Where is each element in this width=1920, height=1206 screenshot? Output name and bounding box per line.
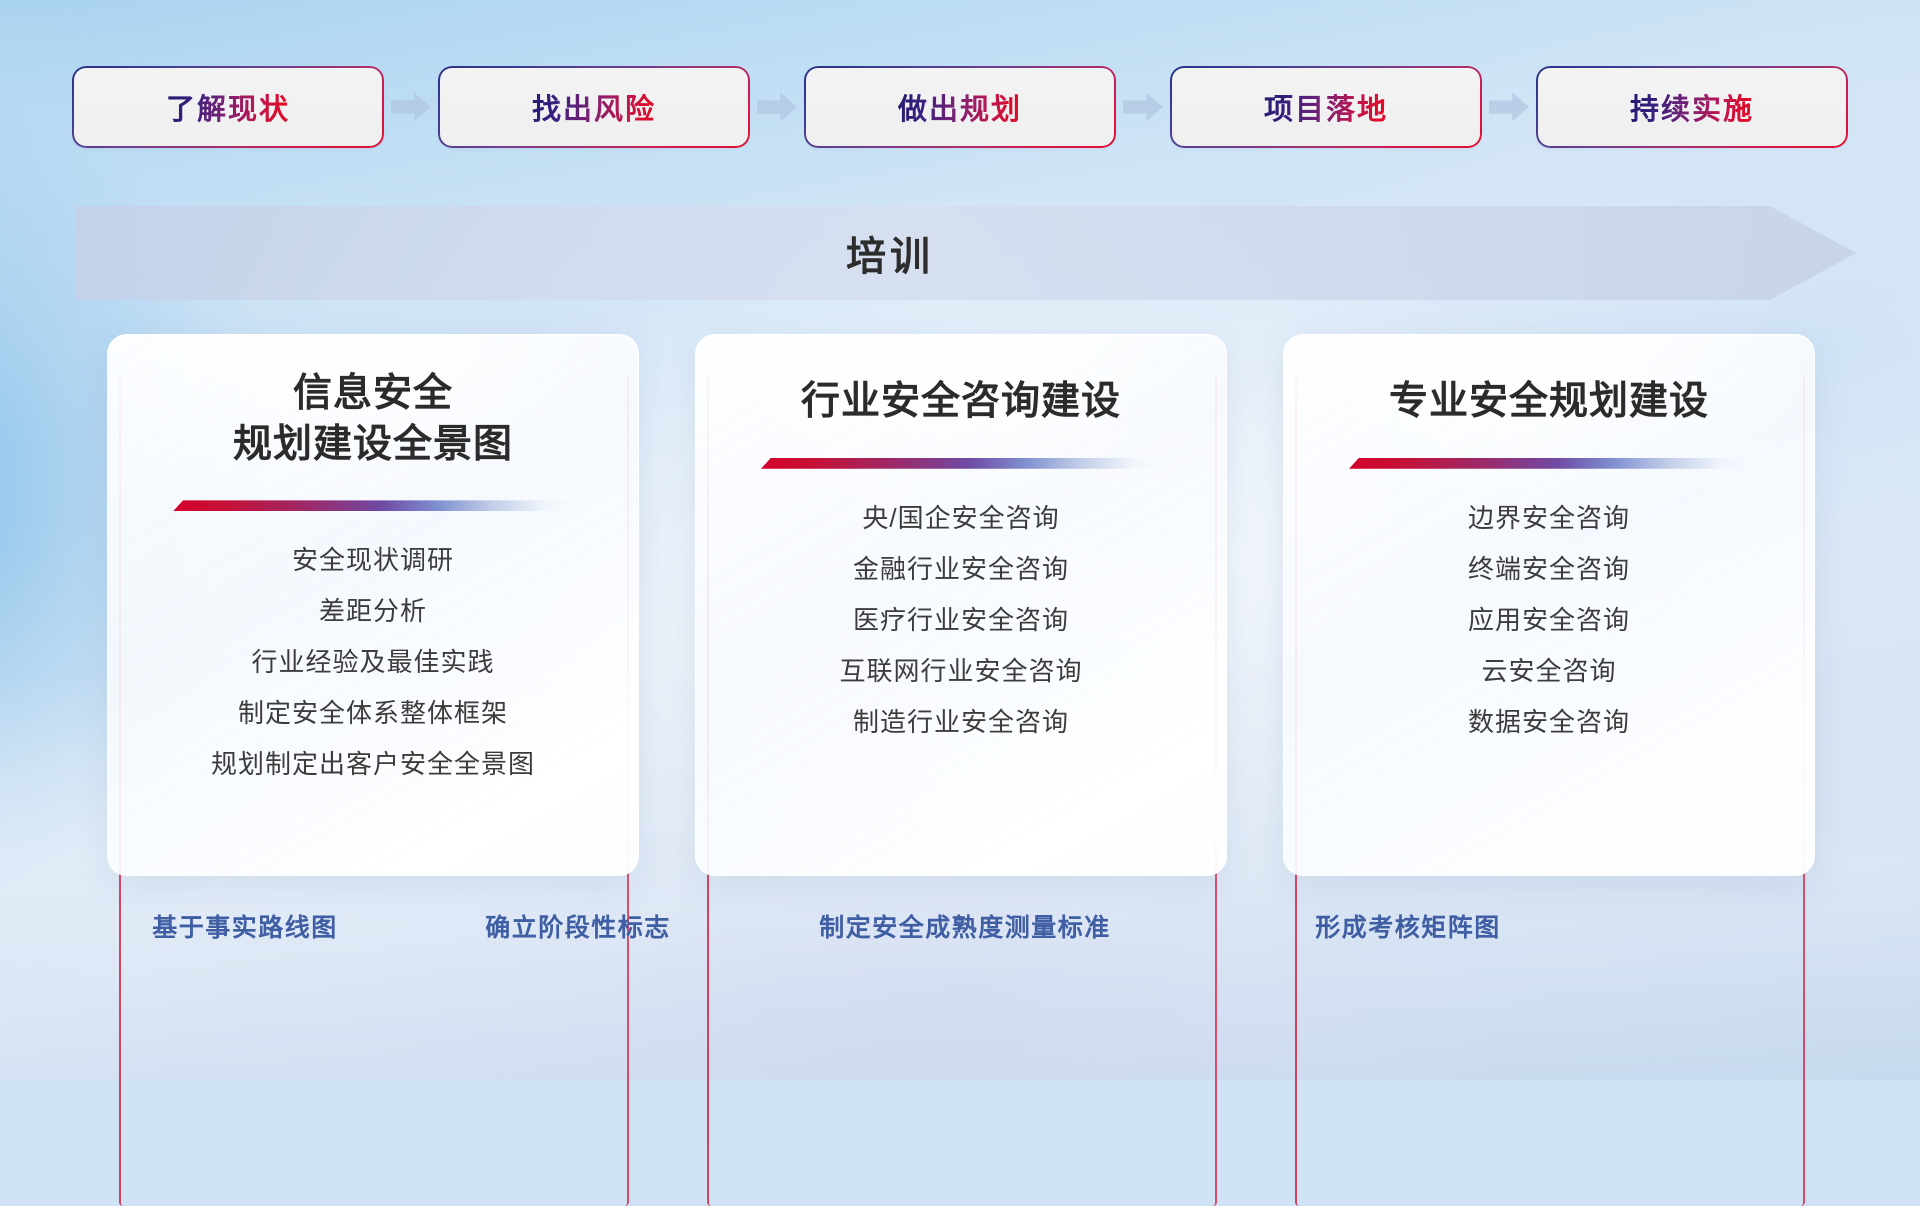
list-item: 边界安全咨询 [1468, 505, 1630, 531]
list-item: 数据安全咨询 [1468, 709, 1630, 735]
list-item: 制定安全体系整体框架 [211, 700, 535, 726]
step-label: 持续实施 [1630, 86, 1754, 128]
card-divider [173, 500, 573, 511]
card-wrapper-2: 行业安全咨询建设 央/国企安全咨询 金融行业安全咨询 医疗行业安全咨询 互联网行… [695, 334, 1225, 876]
step-label: 做出规划 [898, 86, 1022, 128]
card-item-list: 安全现状调研 差距分析 行业经验及最佳实践 制定安全体系整体框架 规划制定出客户… [211, 547, 535, 777]
card-row: 信息安全 规划建设全景图 安全现状调研 差距分析 行业经验及最佳实践 制定安全体… [0, 334, 1920, 876]
card-item-list: 央/国企安全咨询 金融行业安全咨询 医疗行业安全咨询 互联网行业安全咨询 制造行… [839, 505, 1082, 735]
arrow-right-icon [1480, 68, 1538, 146]
card-divider [761, 458, 1161, 469]
training-banner-label: 培训 [846, 224, 934, 282]
footer-label-row: 基于事实路线图 确立阶段性标志 制定安全成熟度测量标准 形成考核矩阵图 [0, 908, 1920, 968]
list-item: 制造行业安全咨询 [839, 709, 1082, 735]
step-chip-1[interactable]: 了解现状 [74, 68, 382, 146]
step-chip-3[interactable]: 做出规划 [806, 68, 1114, 146]
arrow-right-icon [1114, 68, 1172, 146]
list-item: 应用安全咨询 [1468, 607, 1630, 633]
step-label: 了解现状 [166, 86, 290, 128]
list-item: 差距分析 [211, 598, 535, 624]
arrow-right-icon [748, 68, 806, 146]
card-wrapper-1: 信息安全 规划建设全景图 安全现状调研 差距分析 行业经验及最佳实践 制定安全体… [107, 334, 637, 876]
training-banner-label-wrap: 培训 [0, 206, 1780, 300]
process-step-row: 了解现状 找出风险 做出规划 项目落地 持续实施 [0, 68, 1920, 146]
list-item: 终端安全咨询 [1468, 556, 1630, 582]
list-item: 金融行业安全咨询 [839, 556, 1082, 582]
card-divider [1349, 458, 1749, 469]
card-professional-security-planning[interactable]: 专业安全规划建设 边界安全咨询 终端安全咨询 应用安全咨询 云安全咨询 数据安全… [1283, 334, 1815, 876]
list-item: 安全现状调研 [211, 547, 535, 573]
step-chip-2[interactable]: 找出风险 [440, 68, 748, 146]
step-label: 找出风险 [532, 86, 656, 128]
list-item: 医疗行业安全咨询 [839, 607, 1082, 633]
card-title: 专业安全规划建设 [1389, 377, 1709, 428]
card-info-security-panorama[interactable]: 信息安全 规划建设全景图 安全现状调研 差距分析 行业经验及最佳实践 制定安全体… [107, 334, 639, 876]
arrow-right-icon [382, 68, 440, 146]
list-item: 互联网行业安全咨询 [839, 658, 1082, 684]
card-industry-security-consulting[interactable]: 行业安全咨询建设 央/国企安全咨询 金融行业安全咨询 医疗行业安全咨询 互联网行… [695, 334, 1227, 876]
card-title: 行业安全咨询建设 [801, 377, 1121, 428]
footer-label-3: 制定安全成熟度测量标准 [819, 908, 1111, 944]
footer-label-1: 基于事实路线图 [152, 908, 338, 944]
footer-label-4: 形成考核矩阵图 [1315, 908, 1501, 944]
list-item: 行业经验及最佳实践 [211, 649, 535, 675]
card-title: 信息安全 规划建设全景图 [233, 369, 513, 470]
step-chip-4[interactable]: 项目落地 [1172, 68, 1480, 146]
card-item-list: 边界安全咨询 终端安全咨询 应用安全咨询 云安全咨询 数据安全咨询 [1468, 505, 1630, 735]
step-chip-5[interactable]: 持续实施 [1538, 68, 1846, 146]
card-wrapper-3: 专业安全规划建设 边界安全咨询 终端安全咨询 应用安全咨询 云安全咨询 数据安全… [1283, 334, 1813, 876]
list-item: 规划制定出客户安全全景图 [211, 751, 535, 777]
footer-label-2: 确立阶段性标志 [485, 908, 671, 944]
list-item: 央/国企安全咨询 [839, 505, 1082, 531]
list-item: 云安全咨询 [1468, 658, 1630, 684]
step-label: 项目落地 [1264, 86, 1388, 128]
